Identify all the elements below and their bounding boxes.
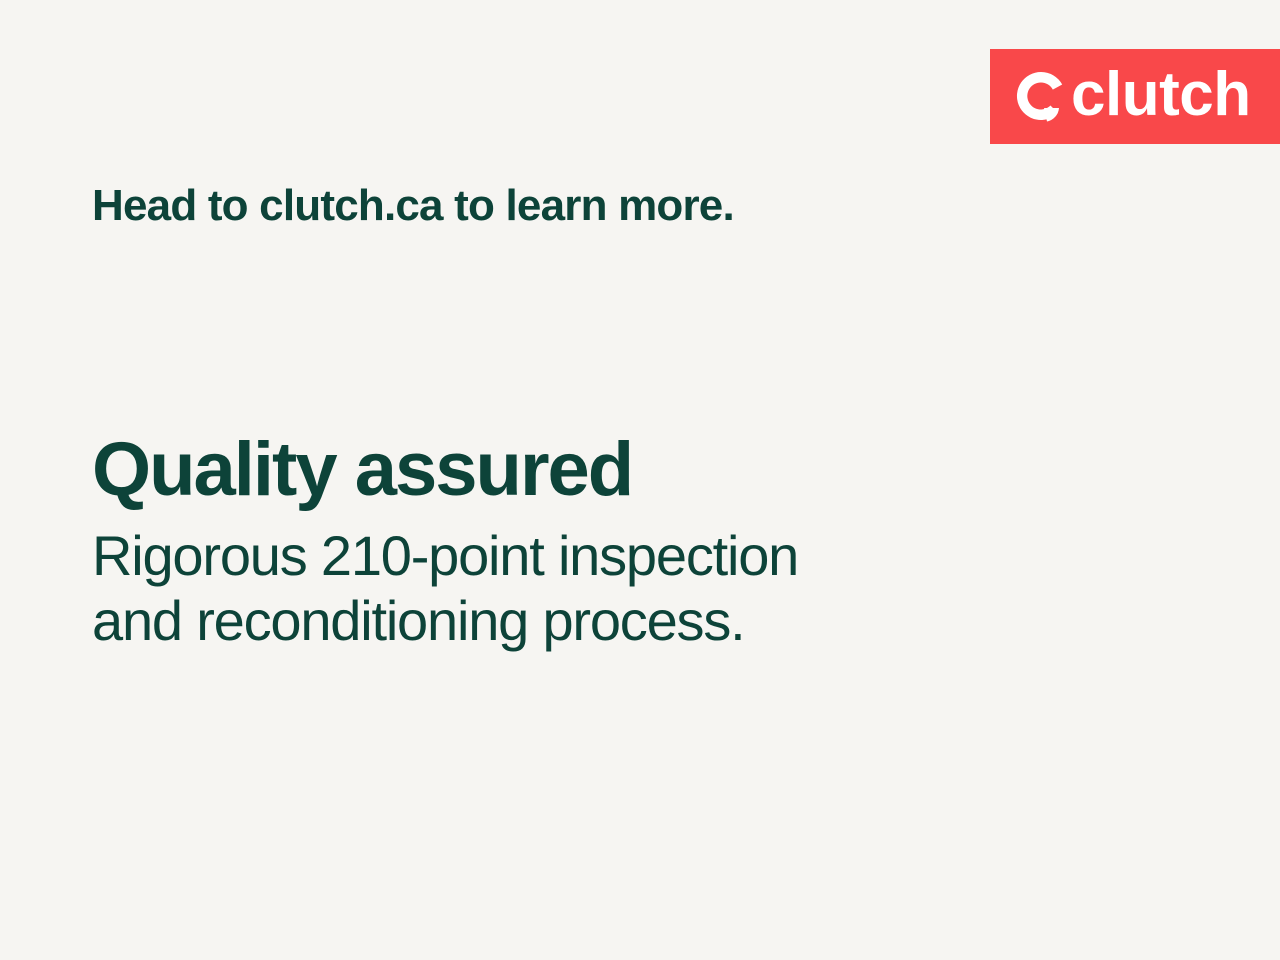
- clutch-logo-block[interactable]: clutch: [990, 49, 1280, 144]
- clutch-c-mark-icon: [1016, 71, 1066, 123]
- subcopy-line-1: Rigorous 210-point inspection: [92, 524, 1092, 589]
- subcopy: Rigorous 210-point inspection and recond…: [92, 524, 1092, 654]
- slide-canvas: clutch Head to clutch.ca to learn more. …: [0, 0, 1280, 960]
- kicker-text: Head to clutch.ca to learn more.: [92, 182, 734, 230]
- clutch-wordmark: clutch: [1071, 64, 1251, 126]
- page-title: Quality assured: [92, 432, 1092, 508]
- subcopy-line-2: and reconditioning process.: [92, 589, 1092, 654]
- main-content: Quality assured Rigorous 210-point inspe…: [92, 432, 1092, 654]
